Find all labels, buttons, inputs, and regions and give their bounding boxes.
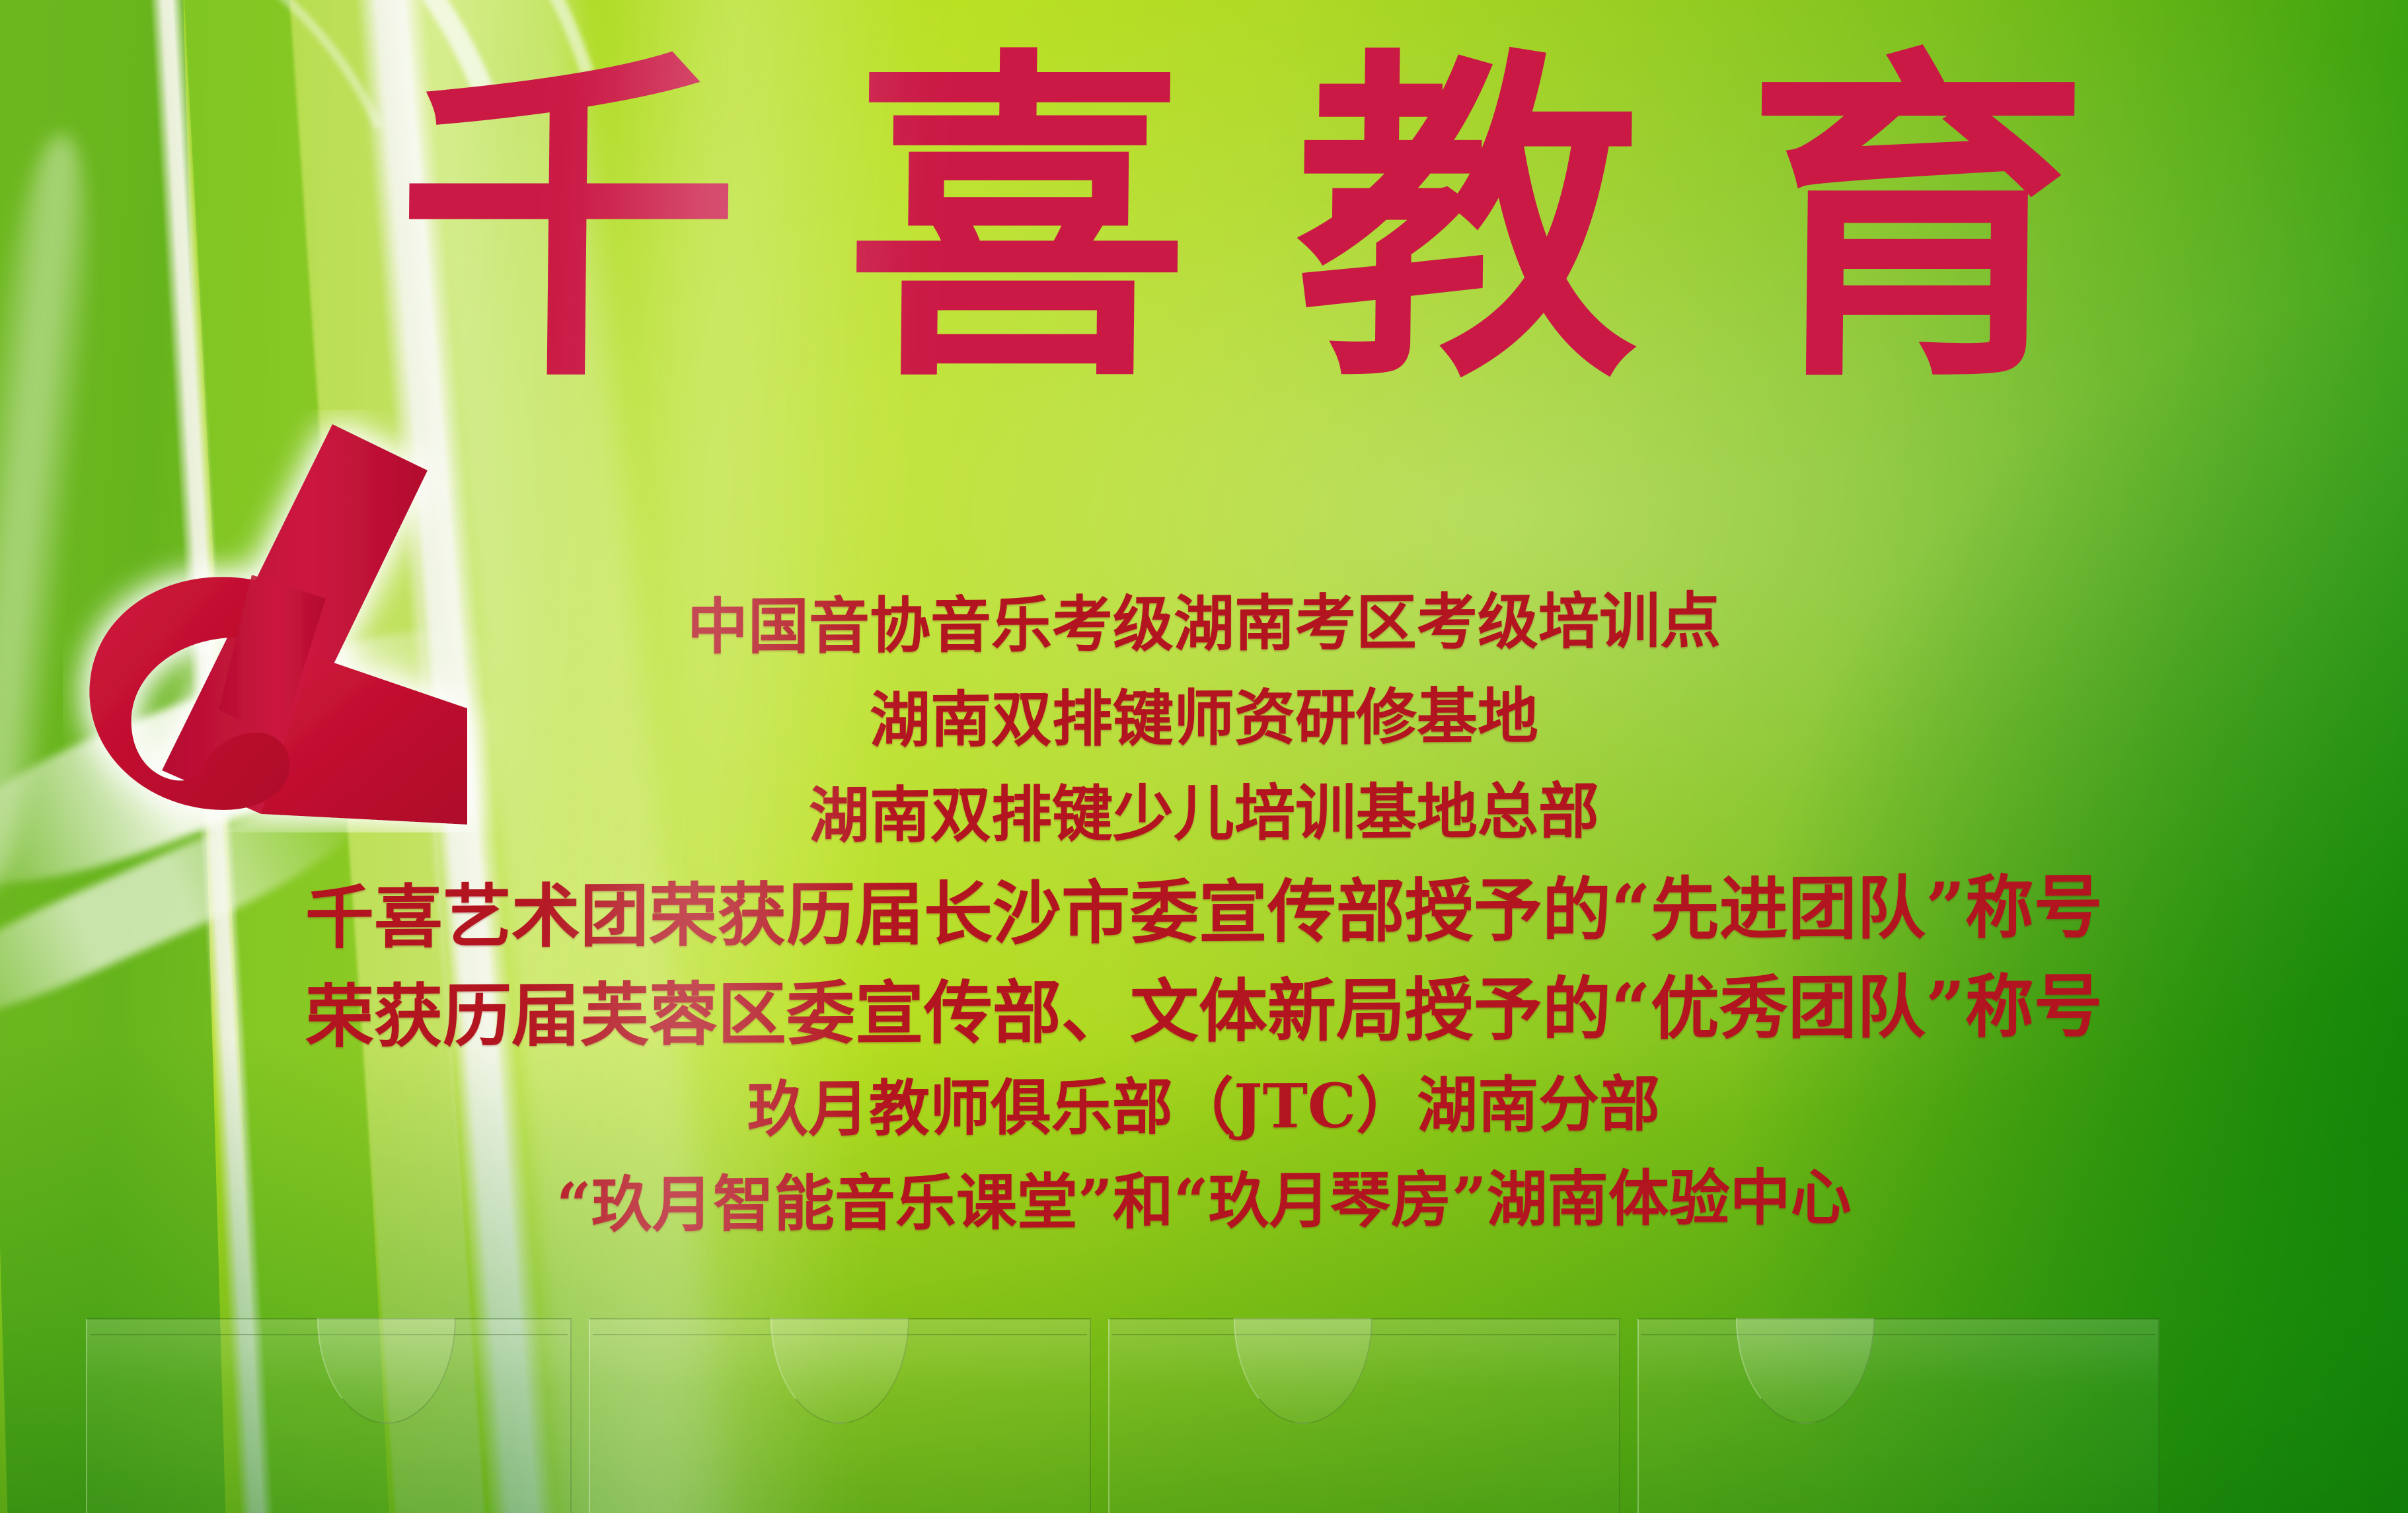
- education-signboard: 千 喜 教 育 中国音协音乐考级湖南考区考级培训点 湖南双排键师资研修基地 湖南…: [0, 0, 2408, 1513]
- title-char-2: 喜: [844, 50, 1191, 393]
- thumb-notch: [1736, 1318, 1875, 1424]
- brochure-holder-row: [0, 1295, 2408, 1513]
- credential-line: 千喜艺术团荣获历届长沙市委宣传部授予的“先进团队”称号: [305, 870, 2103, 955]
- brochure-holder[interactable]: [1637, 1318, 2160, 1513]
- thumb-notch: [317, 1318, 456, 1424]
- page-title: 千 喜 教 育: [396, 50, 2088, 472]
- credential-line: 玖月教师俱乐部（JTC）湖南分部: [747, 1071, 1661, 1142]
- credential-line: 荣获历届芙蓉区委宣传部、文体新局授予的“优秀团队”称号: [305, 969, 2103, 1054]
- thumb-notch: [1234, 1318, 1373, 1424]
- wall-corner: [0, 0, 69, 92]
- credential-line: 湖南双排键少儿培训基地总部: [809, 778, 1599, 849]
- credential-line: 中国音协音乐考级湖南考区考级培训点: [687, 588, 1721, 660]
- credential-line: “玖月智能音乐课堂”和“玖月琴房”湖南体验中心: [556, 1165, 1852, 1238]
- brochure-holder[interactable]: [589, 1318, 1091, 1513]
- title-char-4: 育: [1743, 50, 2089, 393]
- thumb-notch: [771, 1318, 909, 1424]
- brochure-holder[interactable]: [1108, 1318, 1620, 1513]
- title-char-3: 教: [1293, 50, 1640, 393]
- credential-line: 湖南双排键师资研修基地: [870, 684, 1538, 754]
- brochure-holder[interactable]: [86, 1318, 572, 1513]
- title-char-1: 千: [395, 50, 741, 393]
- credentials-list: 中国音协音乐考级湖南考区考级培训点 湖南双排键师资研修基地 湖南双排键少儿培训基…: [0, 591, 2408, 1263]
